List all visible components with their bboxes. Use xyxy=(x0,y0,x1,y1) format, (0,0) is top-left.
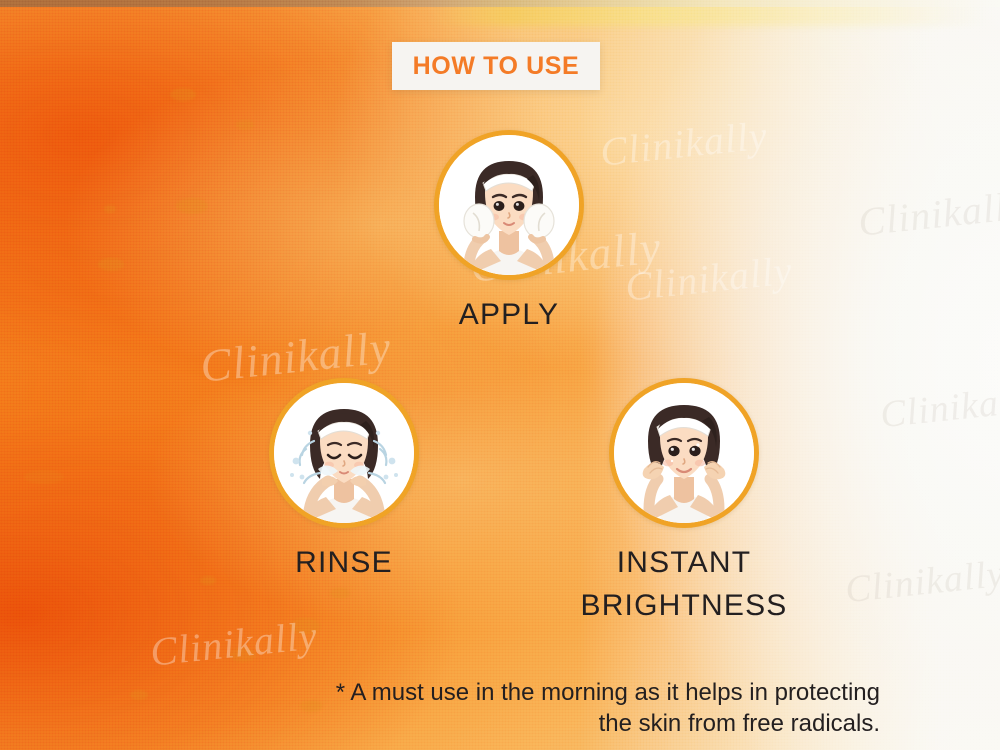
woman-applying-cleanser-icon xyxy=(434,130,584,280)
footnote-line-2: the skin from free radicals. xyxy=(190,709,880,740)
step-brightness[interactable]: INSTANT BRIGHTNESS xyxy=(609,378,794,627)
paint-blot xyxy=(200,576,216,585)
paint-blot xyxy=(98,258,124,271)
paint-blot xyxy=(104,205,116,213)
step-rinse-label: RINSE xyxy=(269,542,419,585)
step-rinse[interactable]: RINSE xyxy=(269,378,419,585)
footnote-line-1: * A must use in the morning as it helps … xyxy=(190,678,880,709)
woman-rinsing-face-icon xyxy=(269,378,419,528)
paint-blot xyxy=(176,198,208,214)
section-title: HOW TO USE xyxy=(413,52,580,81)
paint-blot xyxy=(170,88,196,101)
paint-blot xyxy=(24,470,64,484)
footnote: * A must use in the morning as it helps … xyxy=(190,678,880,739)
step-apply-label: APPLY xyxy=(434,294,584,337)
step-brightness-label: INSTANT BRIGHTNESS xyxy=(574,542,794,627)
paint-blot xyxy=(330,588,350,599)
paint-blot xyxy=(230,648,256,662)
top-edge-strip xyxy=(0,0,1000,7)
paint-blot xyxy=(130,690,148,700)
woman-glowing-skin-icon xyxy=(609,378,759,528)
paint-blot xyxy=(290,618,320,634)
paint-blot xyxy=(236,120,254,130)
how-to-use-panel: ClinikallyClinikallyClinikallyClinikally… xyxy=(0,0,1000,750)
step-apply[interactable]: APPLY xyxy=(434,130,584,337)
section-title-band: HOW TO USE xyxy=(392,42,600,90)
background-paper-fade xyxy=(0,0,1000,750)
